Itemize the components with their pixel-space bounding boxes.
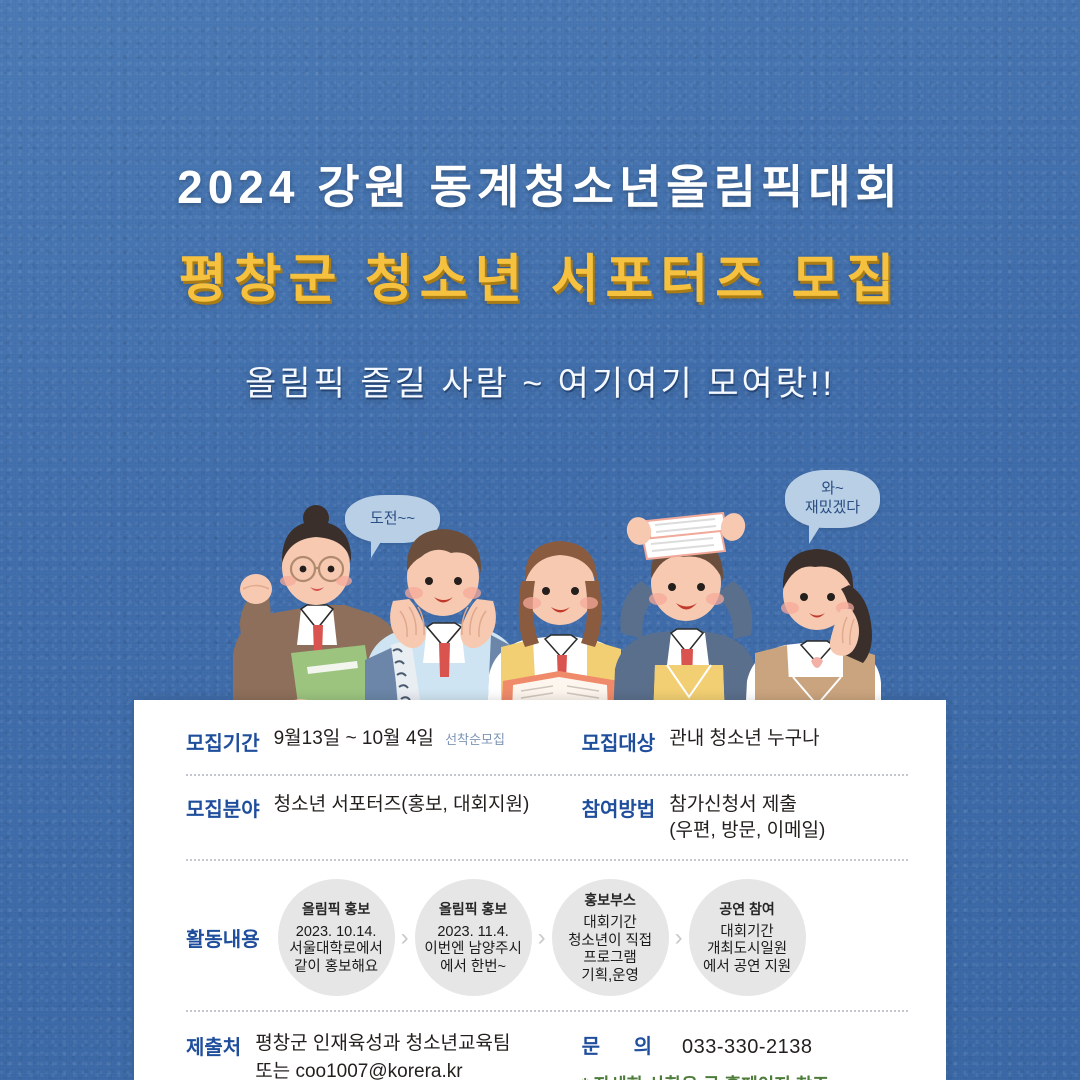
- value-recruit-period: 9월13일 ~ 10월 4일 선착순모집: [274, 726, 505, 752]
- student-4: [613, 510, 755, 720]
- note-first-come: 선착순모집: [445, 732, 505, 747]
- poster-heading-group: 2024 강원 동계청소년올림픽대회 평창군 청소년 서포터즈 모집 올림픽 즐…: [0, 160, 1080, 405]
- activity-line: 이번엔 남양주시: [424, 941, 521, 957]
- activity-body: 대회기간 개최도시일원 에서 공연 지원: [703, 924, 791, 977]
- students-illustration: [215, 505, 895, 720]
- info-row-activities: 활동내용 올림픽 홍보 2023. 10.14. 서울대학로에서 같이 홍보해요…: [186, 861, 908, 1010]
- activity-body: 2023. 11.4. 이번엔 남양주시 에서 한번~: [424, 924, 521, 977]
- reference-note: * 자세한 사항은 군 홈페이지 참조: [582, 1071, 908, 1080]
- info-row-contact: 제출처 평창군 인재육성과 청소년교육팀 또는 coo1007@korera.k…: [186, 1012, 908, 1080]
- label-recruit-period: 모집기간: [186, 726, 260, 756]
- field-recruit-area: 모집분야 청소년 서포터즈(홍보, 대회지원): [186, 792, 582, 822]
- activity-line: 에서 한번~: [440, 959, 506, 975]
- submit-line2-email[interactable]: 또는 coo1007@korera.kr: [255, 1061, 462, 1080]
- inquiry-line: 문 의 033-330-2138: [582, 1030, 908, 1059]
- value-participation-line2: (우편, 방문, 이메일): [669, 820, 825, 841]
- books-icon: [643, 513, 727, 559]
- activity-line: 기획,운영: [581, 968, 638, 984]
- label-recruit-area: 모집분야: [186, 792, 260, 822]
- submit-line1: 평창군 인재육성과 청소년교육팀: [255, 1033, 510, 1054]
- chevron-right-icon: ›: [675, 924, 683, 952]
- activity-line: 청소년이 직접: [568, 933, 652, 949]
- value-submit-to: 평창군 인재육성과 청소년교육팀 또는 coo1007@korera.kr: [255, 1030, 510, 1080]
- activity-line: 2023. 10.14.: [296, 924, 377, 940]
- field-inquiry: 문 의 033-330-2138 * 자세한 사항은 군 홈페이지 참조: [582, 1030, 908, 1080]
- poster-root: 2024 강원 동계청소년올림픽대회 평창군 청소년 서포터즈 모집 올림픽 즐…: [0, 0, 1080, 1080]
- page-subtitle: 평창군 청소년 서포터즈 모집: [0, 237, 1080, 312]
- activity-title: 홍보부스: [584, 890, 636, 910]
- activity-title: 공연 참여: [719, 899, 774, 919]
- value-recruit-target: 관내 청소년 누구나: [669, 726, 819, 752]
- value-recruit-period-text: 9월13일 ~ 10월 4일: [274, 728, 434, 749]
- field-recruit-period: 모집기간 9월13일 ~ 10월 4일 선착순모집: [186, 726, 582, 756]
- activity-line: 개최도시일원: [707, 941, 787, 957]
- activity-line: 서울대학로에서: [289, 941, 382, 957]
- label-submit-to: 제출처: [186, 1030, 241, 1060]
- activity-circle-list: 올림픽 홍보 2023. 10.14. 서울대학로에서 같이 홍보해요 › 올림…: [278, 879, 806, 996]
- page-title: 2024 강원 동계청소년올림픽대회: [0, 160, 1080, 215]
- student-5: [745, 549, 881, 720]
- label-recruit-target: 모집대상: [582, 726, 656, 756]
- activity-body: 대회기간 청소년이 직접 프로그램 기획,운영: [568, 915, 652, 986]
- activity-line: 대회기간: [583, 915, 636, 931]
- activity-line: 2023. 11.4.: [437, 924, 509, 940]
- activity-title: 올림픽 홍보: [439, 899, 507, 919]
- speech-bubble-right-line1: 와~: [821, 480, 844, 497]
- info-card: 모집기간 9월13일 ~ 10월 4일 선착순모집 모집대상 관내 청소년 누구…: [134, 700, 946, 1080]
- activity-title: 올림픽 홍보: [302, 899, 370, 919]
- field-participation-method: 참여방법 참가신청서 제출 (우편, 방문, 이메일): [582, 792, 908, 843]
- value-participation-line1: 참가신청서 제출: [669, 794, 797, 815]
- chevron-right-icon: ›: [538, 924, 546, 952]
- value-participation-method: 참가신청서 제출 (우편, 방문, 이메일): [669, 792, 825, 843]
- activity-body: 2023. 10.14. 서울대학로에서 같이 홍보해요: [289, 924, 382, 977]
- field-submit-to: 제출처 평창군 인재육성과 청소년교육팀 또는 coo1007@korera.k…: [186, 1030, 582, 1080]
- label-activities: 활동내용: [186, 923, 260, 952]
- label-participation-method: 참여방법: [582, 792, 656, 822]
- field-recruit-target: 모집대상 관내 청소년 누구나: [582, 726, 908, 756]
- activity-line: 프로그램: [583, 950, 636, 966]
- activity-line: 에서 공연 지원: [703, 959, 791, 975]
- activity-circle: 공연 참여 대회기간 개최도시일원 에서 공연 지원: [689, 879, 806, 996]
- activity-line: 같이 홍보해요: [294, 959, 378, 975]
- info-row-recruit-period: 모집기간 9월13일 ~ 10월 4일 선착순모집 모집대상 관내 청소년 누구…: [186, 726, 908, 774]
- student-3: [487, 541, 629, 720]
- value-recruit-area: 청소년 서포터즈(홍보, 대회지원): [274, 792, 530, 818]
- info-row-recruit-field: 모집분야 청소년 서포터즈(홍보, 대회지원) 참여방법 참가신청서 제출 (우…: [186, 776, 908, 859]
- chevron-right-icon: ›: [401, 924, 409, 952]
- activity-line: 대회기간: [720, 924, 773, 940]
- activity-circle: 올림픽 홍보 2023. 11.4. 이번엔 남양주시 에서 한번~: [415, 879, 532, 996]
- label-inquiry: 문 의: [582, 1030, 666, 1059]
- activity-circle: 올림픽 홍보 2023. 10.14. 서울대학로에서 같이 홍보해요: [278, 879, 395, 996]
- tagline: 올림픽 즐길 사람 ~ 여기여기 모여랏!!: [0, 356, 1080, 405]
- value-inquiry-phone[interactable]: 033-330-2138: [682, 1036, 813, 1059]
- activity-circle: 홍보부스 대회기간 청소년이 직접 프로그램 기획,운영: [552, 879, 669, 996]
